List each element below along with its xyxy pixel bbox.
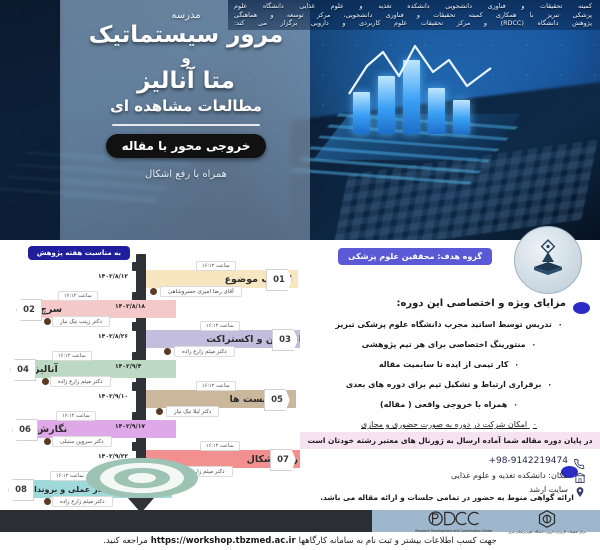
building-icon	[574, 469, 586, 481]
timeline-column: به مناسبت هفته پژوهش انتخاب موضوع 01 ساع…	[0, 240, 300, 510]
footer-info-prefix: جهت کسب اطلاعات بیشتر و ثبت نام به سامان…	[299, 536, 497, 546]
hero-output-chip: خروجی محور با مقاله	[106, 134, 267, 158]
timeline-step-08-time: ساعت ۱۶:۱۲	[50, 471, 90, 481]
timeline-step-03-time: ساعت ۱۶:۱۲	[200, 321, 240, 331]
timeline-step-07-time: ساعت ۱۶:۱۲	[200, 441, 240, 451]
timeline-step-04-time: ساعت ۱۶:۱۲	[52, 351, 92, 361]
contact-list: +98-9142219474 مکان: دانشکده تغذیه و علو…	[308, 455, 586, 497]
advantage-6: امکان شرکت در دوره به صورت حضوری و مجازی	[361, 420, 527, 429]
timeline-step-04[interactable]: آنالیز 04 ساعت ۱۶:۱۲ دکتر میثم زارع زاده…	[0, 360, 300, 390]
list-item: ٠ امکان شرکت در دوره به صورت حضوری و مجا…	[316, 420, 582, 429]
timeline-step-07-number: 07	[270, 449, 296, 471]
timeline-step-05-time: ساعت ۱۶:۱۲	[196, 381, 236, 391]
footer: مرکز تحقیقات کاربردی دارویی دانشگاه علوم…	[0, 510, 600, 550]
body-area: به مناسبت هفته پژوهش انتخاب موضوع 01 ساع…	[0, 240, 600, 510]
list-item: ٠ همراه با خروجی واقعی ( مقاله)	[316, 400, 582, 409]
timeline-step-06-person: دکتر سروین سنبلی	[52, 436, 112, 447]
timeline-step-04-person: دکتر میثم زارع زاده	[50, 376, 111, 387]
contact-phone-text: +98-9142219474	[488, 456, 568, 466]
footer-dark-strip	[0, 510, 372, 532]
university-seal-icon	[514, 226, 582, 294]
timeline-step-03-number: 03	[272, 329, 298, 351]
hero-note: همراه با رفع اشکال	[62, 169, 310, 180]
timeline-step-04-title: آنالیز	[34, 364, 58, 375]
list-item: ٠ تدریس توسط اساتید مجرب دانشگاه علوم پز…	[316, 320, 582, 329]
contact-place-text: مکان: دانشکده تغذیه و علوم غذایی	[451, 471, 568, 480]
trend-line-icon	[345, 42, 495, 117]
footer-logos: مرکز تحقیقات کاربردی دارویی دانشگاه علوم…	[415, 510, 586, 532]
timeline-step-01-number: 01	[266, 269, 292, 291]
timeline-step-03[interactable]: اسکرین و اکستراکت 03 ساعت ۱۶:۱۲ دکتر میث…	[0, 330, 300, 360]
timeline-step-02[interactable]: سرچ 02 ساعت ۱۶:۱۲ دکتر زینب نیک نیاز ۱۴۰…	[0, 300, 300, 330]
poster-root: کمیته تحقیقات و فناوری دانشجویی دانشکده …	[0, 0, 600, 550]
advantage-3: کار تیمی از ایده تا سابمیت مقاله	[379, 360, 509, 369]
timeline-step-05-date: ۱۴۰۲/۹/۱۰	[98, 393, 128, 400]
timeline-step-03-person: دکتر میثم زارع زاده	[174, 346, 235, 357]
list-item: ٠ کار تیمی از ایده تا سابمیت مقاله	[316, 360, 582, 369]
timeline-step-01-date: ۱۴۰۲/۸/۱۲	[98, 273, 128, 280]
certificate-note: ارائه گواهی منوط به حضور در تمامی جلسات …	[308, 493, 586, 502]
timeline-step-02-person: دکتر زینب نیک نیاز	[52, 316, 110, 327]
bar-chart-icon	[345, 42, 495, 162]
hero-left-shade	[0, 0, 62, 240]
timeline-step-02-date: ۱۴۰۲/۸/۱۸	[115, 303, 145, 310]
timeline-step-06[interactable]: نگارش 06 ساعت ۱۶:۱۲ دکتر سروین سنبلی ۱۴۰…	[0, 420, 300, 450]
footer-info-suffix: مراجعه کنید.	[103, 536, 148, 546]
advantage-4: برقراری ارتباط و تشکیل تیم برای دوره های…	[346, 380, 542, 389]
target-group-badge: گروه هدف: محققین علوم پزشکی	[338, 248, 492, 265]
hero-title-conjunction: و	[62, 49, 310, 67]
list-item: ٠ منتورینگ اختصاصی برای هر تیم پژوهشی	[316, 340, 582, 349]
phone-icon	[574, 455, 586, 467]
timeline-step-06-number: 06	[12, 419, 38, 441]
timeline-step-05[interactable]: چک لیست ها 05 ساعت ۱۶:۱۲ دکتر لیلا نیک ن…	[0, 390, 300, 420]
footer-info-line: جهت کسب اطلاعات بیشتر و ثبت نام به سامان…	[0, 532, 600, 550]
hero-banner: کمیته تحقیقات و فناوری دانشجویی دانشکده …	[0, 0, 600, 240]
bullet-accent-dot-top	[573, 302, 590, 314]
details-column: گروه هدف: محققین علوم پزشکی مزایای ویژه …	[300, 240, 600, 510]
rdcc-logo: Research Development and Coordination Ce…	[415, 509, 492, 533]
timeline-step-06-date: ۱۴۰۲/۹/۱۷	[115, 423, 145, 430]
advantages-heading: مزایای ویژه و اختصاصی این دوره:	[396, 298, 566, 309]
timeline-step-02-number: 02	[16, 299, 42, 321]
advantage-2: منتورینگ اختصاصی برای هر تیم پژوهشی	[362, 340, 526, 349]
contact-phone-row[interactable]: +98-9142219474	[308, 455, 586, 467]
hero-subtitle: مطالعات مشاهده ای	[62, 97, 310, 115]
advantage-5: همراه با خروجی واقعی ( مقاله)	[380, 400, 507, 409]
advantages-list: ٠ تدریس توسط اساتید مجرب دانشگاه علوم پز…	[316, 320, 582, 440]
timeline-step-01[interactable]: انتخاب موضوع 01 ساعت ۱۶:۱۲ آقای رضا امیر…	[0, 270, 300, 300]
hero-title-line-1: مرور سیستماتیک	[62, 22, 310, 48]
timeline-step-04-number: 04	[10, 359, 36, 381]
timeline-step-01-time: ساعت ۱۶:۱۲	[196, 261, 236, 271]
hero-title-group: مدرسه مرور سیستماتیک و متا آنالیز مطالعا…	[62, 6, 310, 180]
timeline-step-05-number: 05	[264, 389, 290, 411]
list-item: ٠ برقراری ارتباط و تشکیل تیم برای دوره ه…	[316, 380, 582, 389]
hero-title-line-2: متا آنالیز	[62, 68, 310, 94]
timeline-step-03-date: ۱۴۰۲/۸/۲۶	[98, 333, 128, 340]
pharmacy-research-logo: مرکز تحقیقات کاربردی دارویی دانشگاه علوم…	[509, 509, 586, 534]
timeline-step-08-number: 08	[8, 479, 34, 501]
timeline-step-06-title: نگارش	[36, 424, 67, 435]
advantage-1: تدریس توسط اساتید مجرب دانشگاه علوم پزشک…	[335, 320, 552, 329]
timeline-step-05-person: دکتر لیلا نیک نیاز	[166, 406, 219, 417]
hero-pretitle: مدرسه	[62, 10, 310, 21]
timeline-step-06-time: ساعت ۱۶:۱۲	[56, 411, 96, 421]
timeline-step-02-title: سرچ	[40, 304, 62, 315]
timeline-step-01-person: آقای رضا امیری خسروشاهی	[160, 286, 242, 297]
registration-url[interactable]: https://workshop.tbzmed.ac.ir	[151, 536, 296, 546]
timeline-step-04-date: ۱۴۰۲/۹/۴	[115, 363, 141, 370]
contact-place-row: مکان: دانشکده تغذیه و علوم غذایی	[308, 469, 586, 481]
highlight-banner: در پایان دوره مقاله شما آماده ارسال به ژ…	[300, 432, 600, 449]
hero-divider	[112, 124, 260, 126]
timeline-step-02-time: ساعت ۱۶:۱۲	[58, 291, 98, 301]
target-icon	[86, 456, 198, 500]
